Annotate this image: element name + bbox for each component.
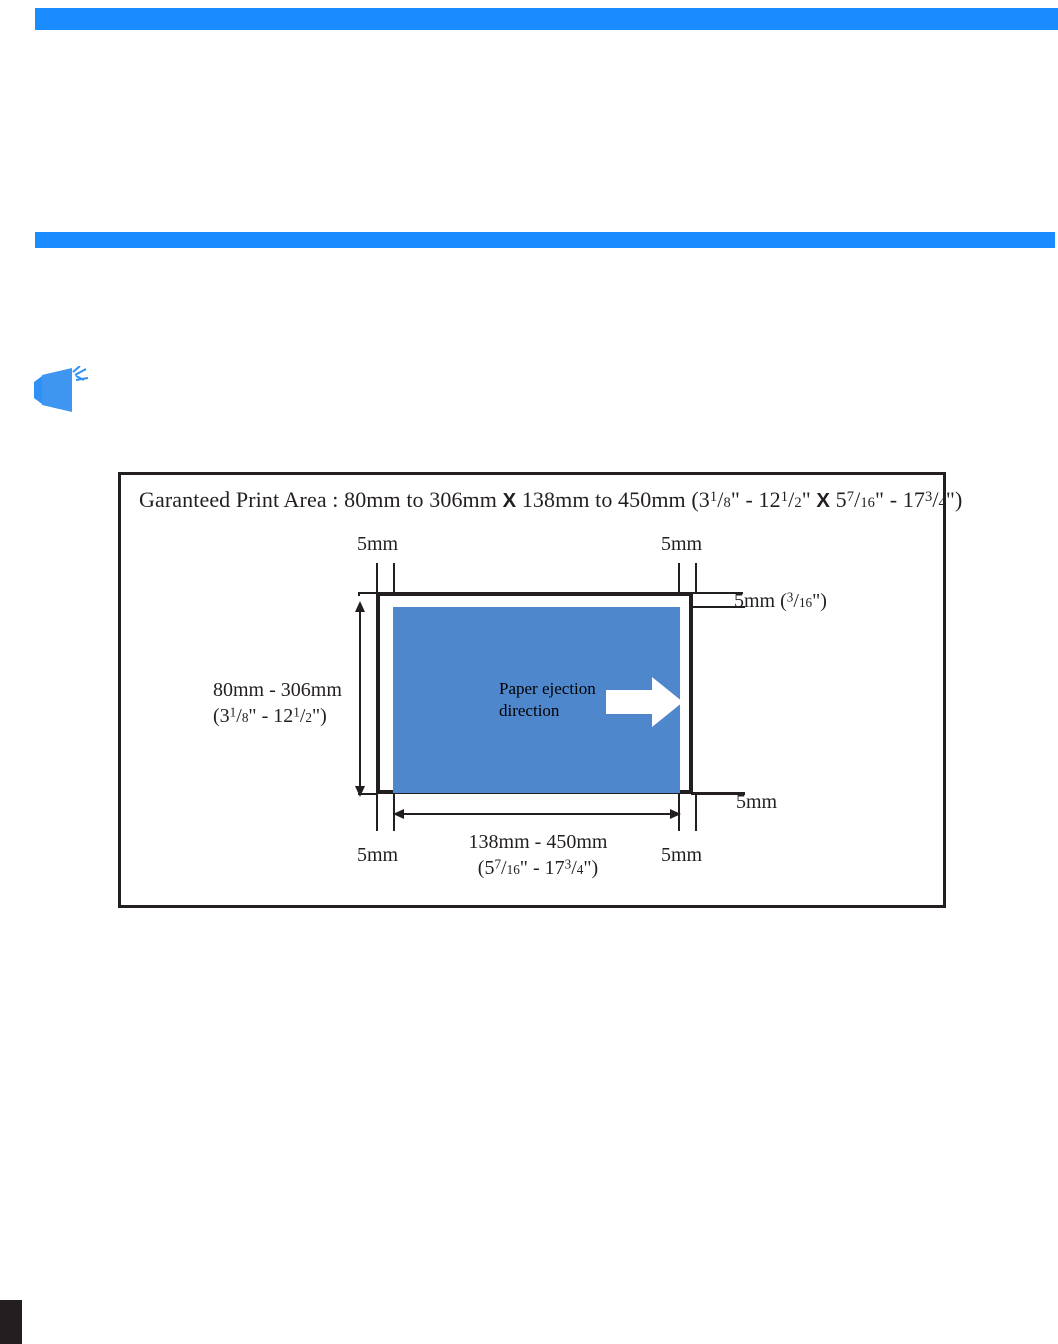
tick-top-left-outer [376, 563, 378, 593]
paper-ejection-line-2: direction [499, 700, 596, 722]
megaphone-icon [24, 366, 96, 414]
vertical-dimension-fraction-2: 1/2 [293, 704, 312, 730]
page-edge-marker [0, 1300, 22, 1344]
margin-label-top-right: 5mm [661, 533, 702, 556]
print-area-figure: Garanteed Print Area : 80mm to 306mm X 1… [118, 472, 946, 908]
horizontal-dimension-arrow [393, 806, 681, 822]
vertical-dimension-arrow [352, 601, 368, 797]
margin-label-bottom-right: 5mm [661, 844, 702, 867]
tick-bottom-left-outer [376, 793, 378, 831]
extension-line-top-left [358, 592, 378, 594]
vertical-dimension-line-1: 80mm - 306mm [213, 678, 342, 704]
paper-ejection-direction-text: Paper ejection direction [499, 678, 596, 722]
figure-title-after-frac-4: ") [946, 487, 963, 512]
margin-label-right-top: 5mm (3/16") [734, 590, 827, 613]
vertical-dimension-fraction-1: 1/8 [230, 704, 249, 730]
tick-top-left-inner [393, 563, 395, 593]
vertical-dimension-line-2: (31/8" - 121/2") [213, 704, 342, 730]
tick-top-right-outer [695, 563, 697, 593]
horizontal-dimension-fraction-1: 7/16 [494, 856, 519, 882]
margin-label-right-bottom: 5mm [736, 791, 777, 814]
right-arrow-icon [606, 675, 684, 729]
header-rule-top [35, 8, 1058, 30]
margin-right-top-fraction: 3/16 [787, 590, 812, 613]
horizontal-dimension-fraction-2: 3/4 [565, 856, 584, 882]
paper-ejection-line-1: Paper ejection [499, 678, 596, 700]
vertical-dimension-label: 80mm - 306mm (31/8" - 121/2") [213, 678, 342, 729]
horizontal-dimension-line-2: (57/16" - 173/4") [418, 856, 658, 882]
header-rule-middle [35, 232, 1055, 248]
tick-top-right-inner [678, 563, 680, 593]
dimension-stub-left-top [358, 592, 360, 596]
margin-label-top-left: 5mm [357, 533, 398, 556]
horizontal-dimension-line-1: 138mm - 450mm [418, 830, 658, 856]
horizontal-dimension-label: 138mm - 450mm (57/16" - 173/4") [418, 830, 658, 881]
margin-label-bottom-left: 5mm [357, 844, 398, 867]
diagram-canvas: Paper ejection direction 5mm 5mm 5mm (3/… [121, 475, 943, 905]
tick-bottom-right-outer [695, 793, 697, 831]
